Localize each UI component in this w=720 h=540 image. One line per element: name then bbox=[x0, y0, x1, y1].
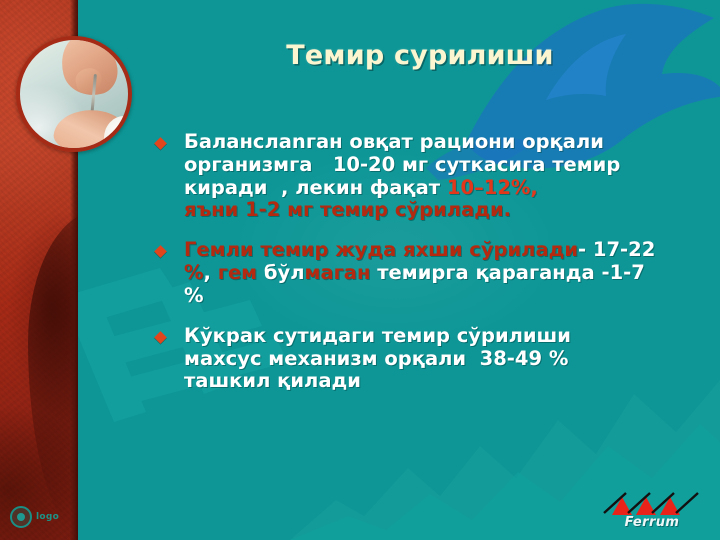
bullet-text: Гемли темир жуда яхши сўрилади- 17-22%, … bbox=[184, 239, 692, 307]
bullet-line: Гемли темир жуда яхши сўрилади- 17-22 bbox=[184, 239, 692, 262]
bullet-line: Баланслаnган овқат рациони орқали bbox=[184, 131, 692, 154]
bullet-line: %, гем бўлмаган темирга қараганда -1-7 bbox=[184, 262, 692, 285]
text-run: - 17-22 bbox=[578, 238, 655, 261]
diamond-bullet-icon bbox=[154, 137, 167, 150]
bullet-line: киради , лекин фақат 10–12%, bbox=[184, 177, 692, 200]
text-run: Кў bbox=[184, 324, 213, 347]
diamond-bullet-icon bbox=[154, 331, 167, 344]
text-run: те bbox=[375, 324, 406, 347]
text-run: механизм bbox=[268, 347, 377, 370]
bullet-list: Баланслаnган овқат рациони орқалиорганиз… bbox=[152, 131, 692, 410]
text-run: крак bbox=[213, 324, 267, 347]
text-run: Гемли темир жуда яхши сўрилади bbox=[184, 238, 578, 261]
text-run: темирга қараганда -1-7 bbox=[370, 261, 644, 284]
text-run: бўл bbox=[257, 261, 304, 284]
text-run: % bbox=[184, 261, 204, 284]
bullet-line: % bbox=[184, 285, 692, 308]
hands-with-pendant-photo bbox=[16, 36, 132, 152]
text-run: гем bbox=[218, 261, 257, 284]
text-run: орқали 38-49 % bbox=[378, 347, 569, 370]
text-run: тидаги bbox=[297, 324, 375, 347]
diamond-bullet-icon bbox=[154, 245, 167, 258]
bullet-item: Гемли темир жуда яхши сўрилади- 17-22%, … bbox=[152, 239, 692, 307]
bullet-line: яъни 1-2 мг темир сўрилади. bbox=[184, 199, 692, 222]
presentation-slide: Темир сурилиши Баланслаnган овқат рацион… bbox=[0, 0, 720, 540]
bullet-line: ташкил қилади bbox=[184, 370, 692, 393]
corner-logo: logo bbox=[10, 506, 59, 528]
bullet-text: Кўкрак сутидаги темир сўрилишимахсус мех… bbox=[184, 325, 692, 393]
text-run: организмга 10-20 мг суткасига темир bbox=[184, 153, 620, 176]
text-run: Баланслаnган овқат рациони орқали bbox=[184, 130, 604, 153]
three-red-peaks-icon bbox=[600, 491, 704, 517]
text-run: махсус bbox=[184, 347, 268, 370]
text-run: су bbox=[266, 324, 297, 347]
text-run: мир сўрилиши bbox=[406, 324, 571, 347]
bullet-line: Кўкрак сутидаги темир сўрилиши bbox=[184, 325, 692, 348]
text-run: маган bbox=[305, 261, 371, 284]
bullet-text: Баланслаnган овқат рациони орқалиорганиз… bbox=[184, 131, 692, 222]
text-run: , bbox=[204, 261, 218, 284]
slide-title: Темир сурилиши bbox=[150, 40, 690, 71]
text-run: киради , лекин фақат bbox=[184, 176, 447, 199]
bullet-line: махсус механизм орқали 38-49 % bbox=[184, 348, 692, 371]
ferrum-brand: Ferrum bbox=[600, 491, 704, 530]
bullet-item: Баланслаnган овқат рациони орқалиорганиз… bbox=[152, 131, 692, 222]
circular-teal-logo-icon bbox=[10, 506, 32, 528]
text-run: 10–12%, bbox=[447, 176, 538, 199]
bullet-line: организмга 10-20 мг суткасига темир bbox=[184, 154, 692, 177]
text-run: яъни 1-2 мг темир сўрилади. bbox=[184, 198, 511, 221]
bullet-item: Кўкрак сутидаги темир сўрилишимахсус мех… bbox=[152, 325, 692, 393]
corner-logo-label: logo bbox=[36, 512, 59, 522]
ferrum-brand-label: Ferrum bbox=[600, 515, 704, 530]
text-run: % bbox=[184, 284, 204, 307]
text-run: таш bbox=[184, 369, 229, 392]
text-run: қилади bbox=[270, 369, 361, 392]
text-run: кил bbox=[229, 369, 270, 392]
